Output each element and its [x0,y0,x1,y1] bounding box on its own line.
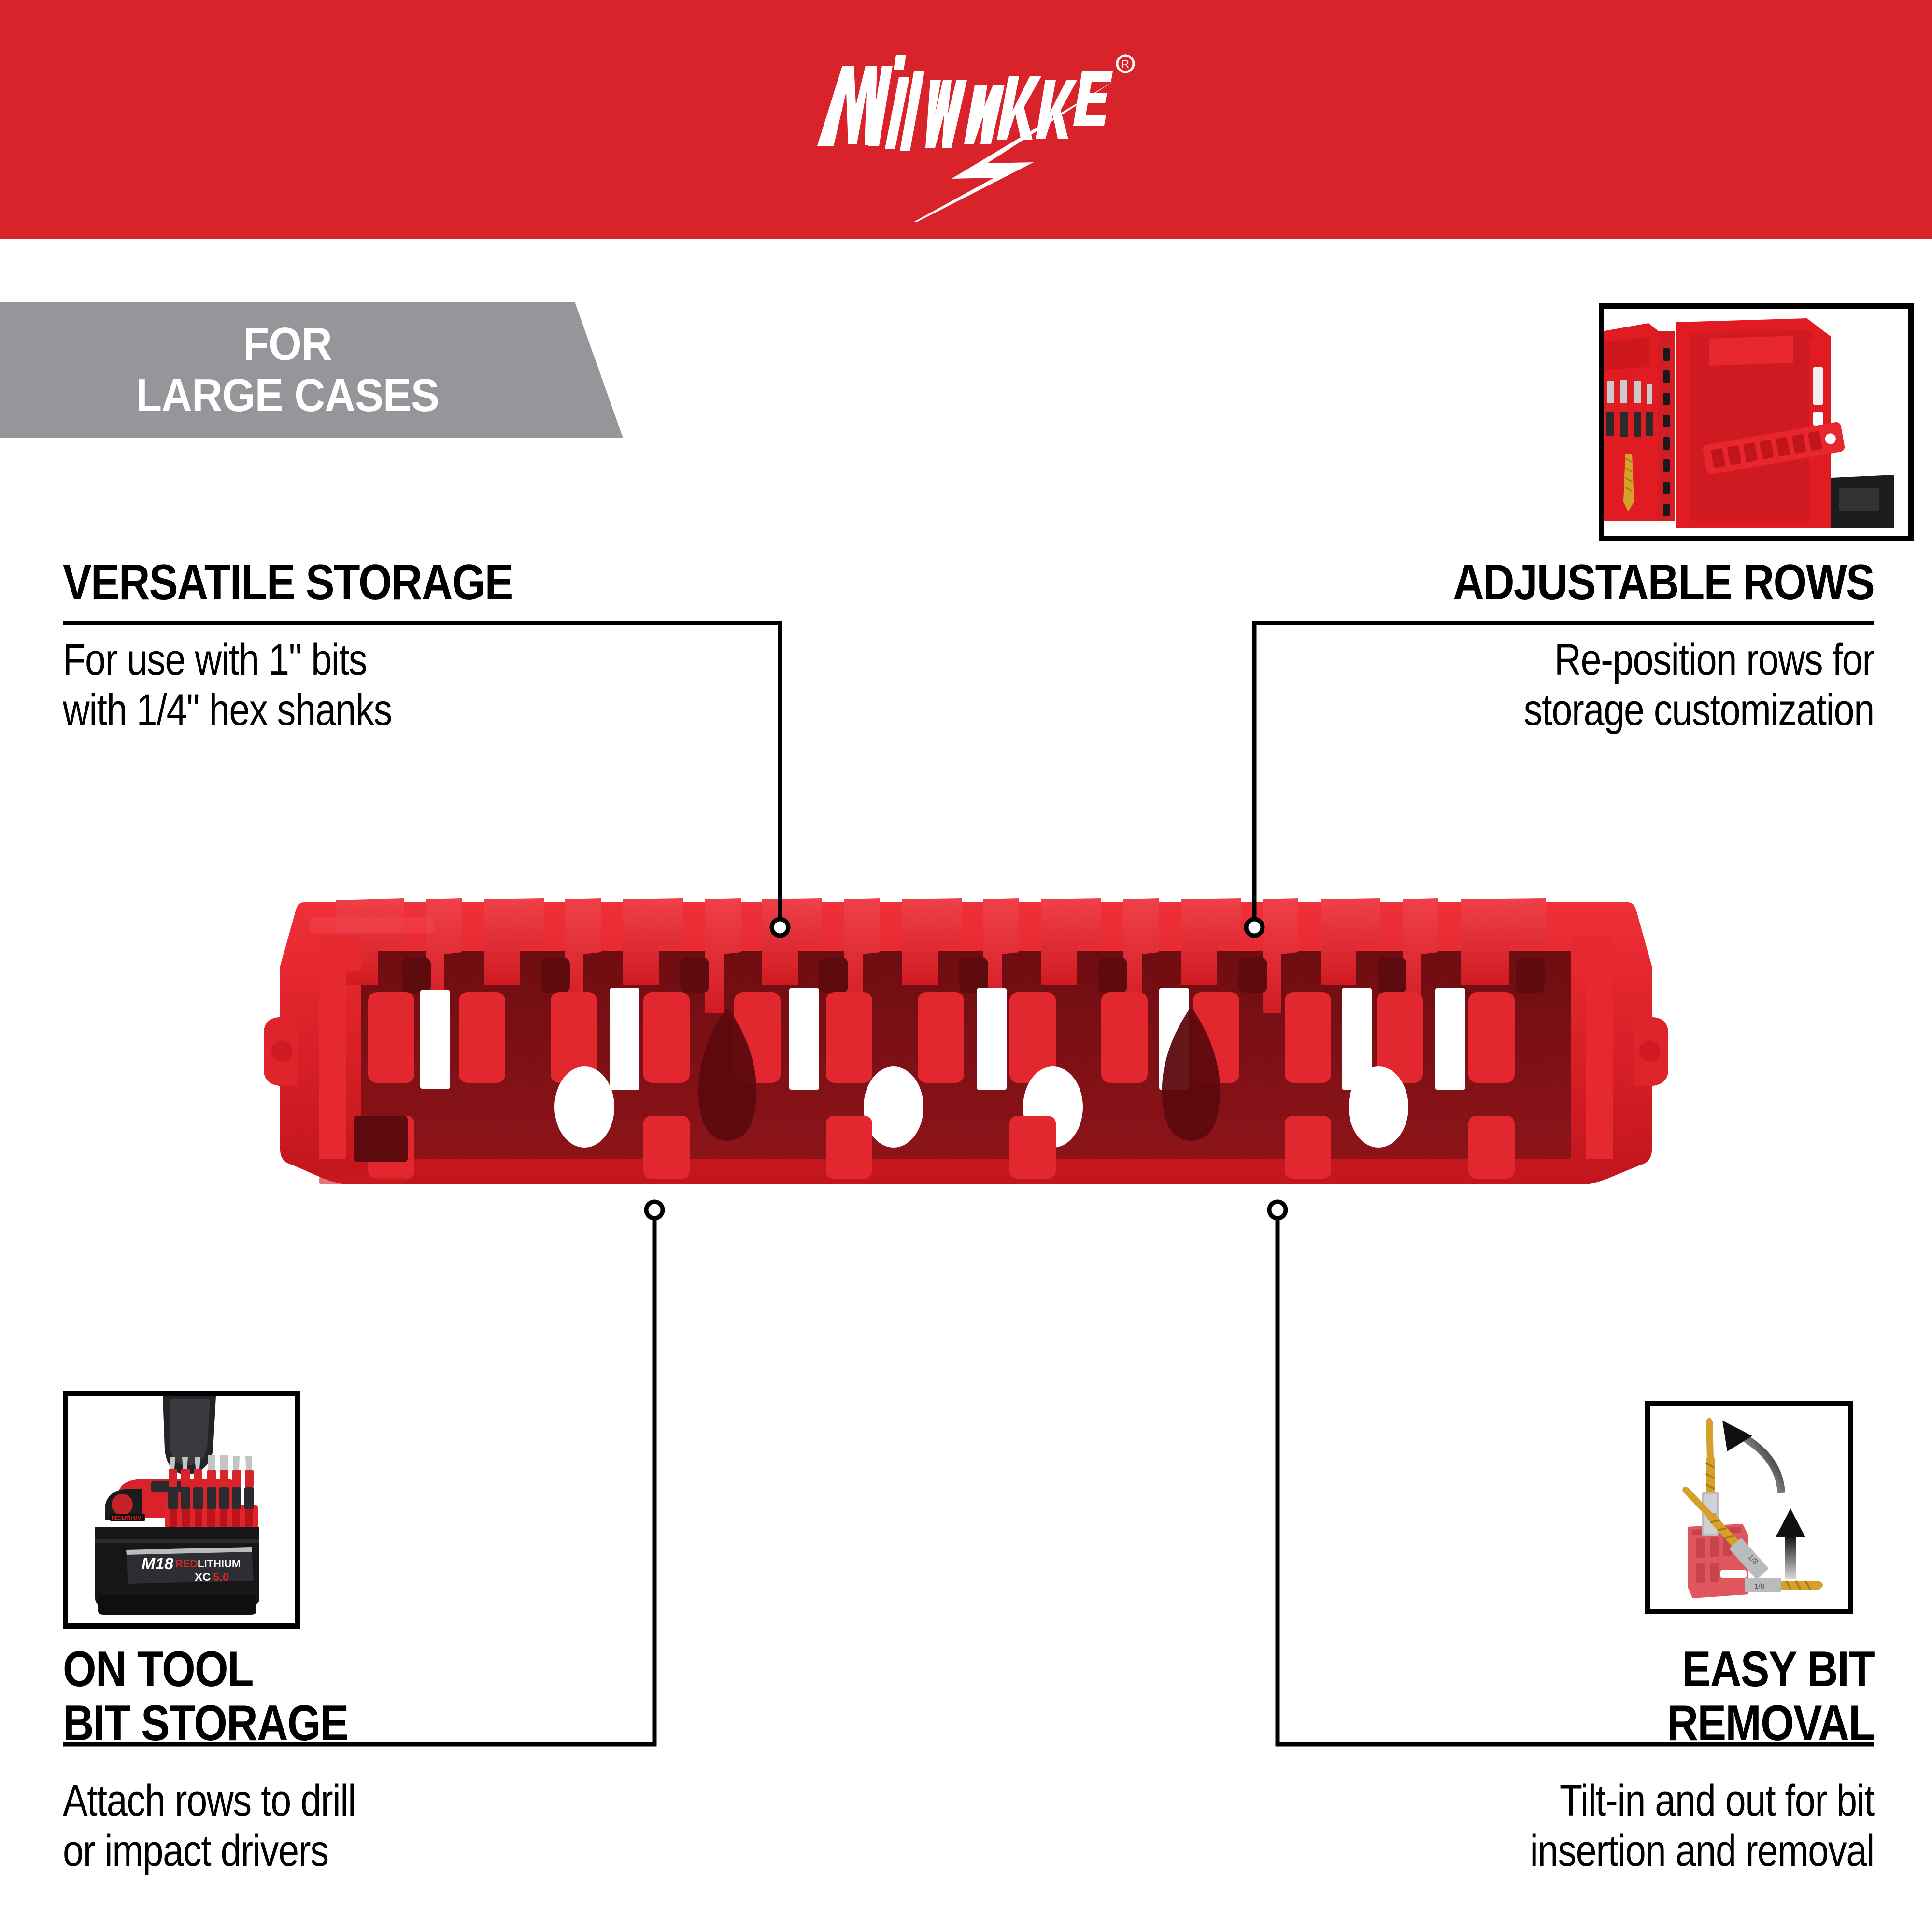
battery-capacity-value: 5.0 [213,1571,229,1584]
banner-line-2: LARGE CASES [23,370,552,421]
callout-heading: VERSATILE STORAGE [63,555,686,610]
callout-heading-line-1: ON TOOL [63,1642,686,1696]
callout-body-line-2: or impact drivers [63,1826,671,1876]
callout-versatile-storage: VERSATILE STORAGE For use with 1" bits w… [63,555,787,735]
callout-heading-line-2: BIT STORAGE [63,1696,686,1750]
callout-on-tool-bit-storage: ON TOOL BIT STORAGE Attach rows to drill… [63,1642,787,1876]
callout-body-line-1: Re-position rows for [1265,635,1874,685]
photo-easy-bit-removal: 1/8 1/8 1/8 [1645,1401,1853,1614]
for-large-cases-banner: FOR LARGE CASES [0,302,623,438]
photo-open-case [1599,303,1914,541]
callout-body-line-1: Tilt-in and out for bit [1265,1776,1874,1826]
battery-chemistry-lithium: LITHIUM [198,1558,241,1570]
svg-text:R: R [1122,58,1129,70]
callout-body-line-2: insertion and removal [1265,1826,1874,1876]
battery-model-label: M18 [142,1555,173,1573]
milwaukee-logo: R [792,19,1140,222]
photo-on-tool-battery: M18 RED LITHIUM XC 5.0 REDLITHIUM [63,1391,300,1629]
callout-heading: ADJUSTABLE ROWS [1251,555,1874,610]
callout-heading-line-2: REMOVAL [1251,1696,1874,1750]
svg-text:REDLITHIUM: REDLITHIUM [112,1516,142,1521]
infographic-canvas: R FOR LARGE CASES [0,0,1932,1932]
battery-chemistry-red: RED [175,1558,198,1570]
brand-header-band: R [0,0,1932,239]
banner-line-1: FOR [23,319,552,369]
callout-body-line-1: Attach rows to drill [63,1776,671,1826]
registered-trademark: R [1117,56,1134,72]
callout-body-line-2: with 1/4" hex shanks [63,685,671,735]
callout-body-line-2: storage customization [1265,685,1874,735]
callout-easy-bit-removal: EASY BIT REMOVAL Tilt-in and out for bit… [1150,1642,1874,1876]
callout-body-line-1: For use with 1" bits [63,635,671,685]
svg-text:1/8: 1/8 [1754,1582,1764,1591]
battery-capacity-xc: XC [195,1571,211,1584]
callout-adjustable-rows: ADJUSTABLE ROWS Re-position rows for sto… [1150,555,1874,735]
callout-heading-line-1: EASY BIT [1251,1642,1874,1696]
product-bit-rail-photo [251,889,1681,1227]
